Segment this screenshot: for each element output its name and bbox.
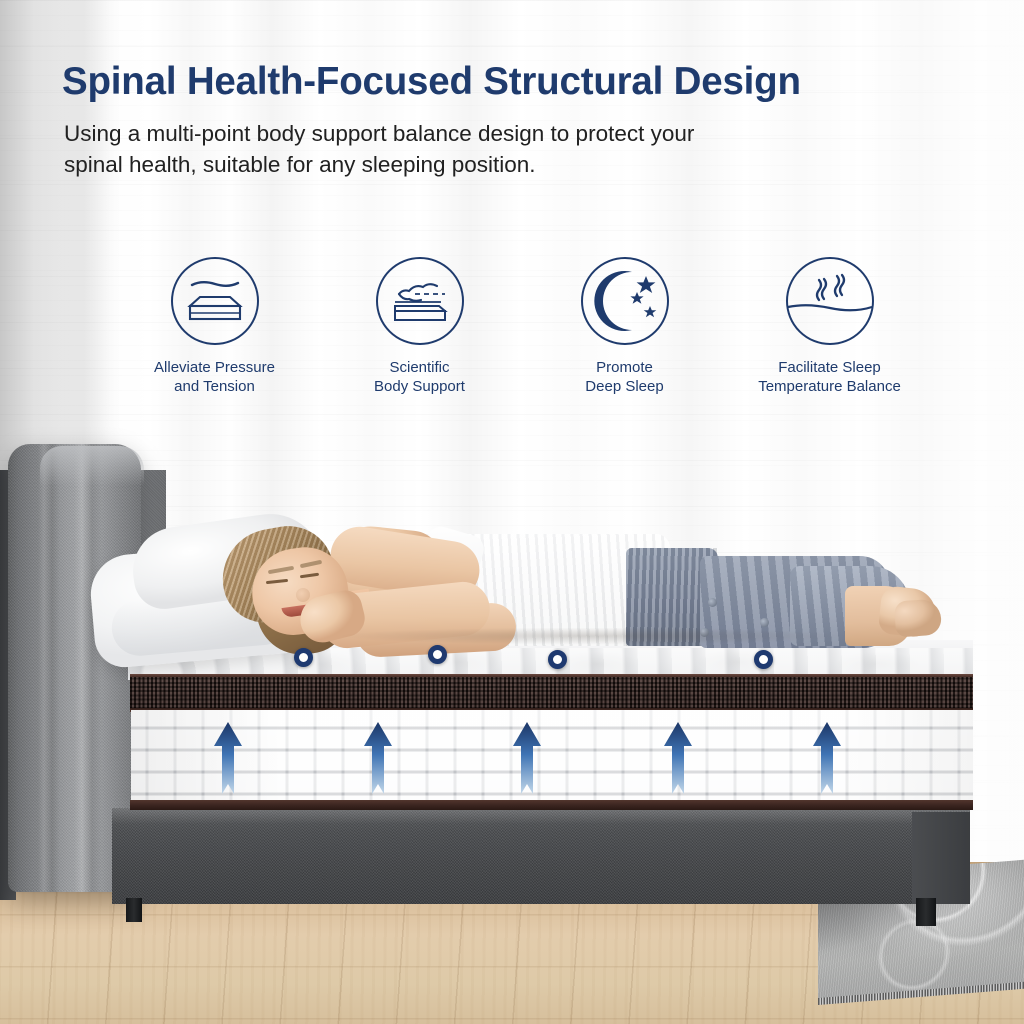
bed-leg-left (126, 898, 142, 922)
feature-item-temperature-balance: Facilitate Sleep Temperature Balance (727, 256, 932, 416)
support-point-marker (428, 645, 447, 664)
support-arrow-up (812, 722, 842, 794)
moon-stars-icon (580, 256, 670, 346)
feature-label: Facilitate Sleep Temperature Balance (758, 358, 901, 396)
headboard-top-highlight (40, 446, 144, 486)
support-point-marker (548, 650, 567, 669)
side-panel-shading (131, 710, 973, 808)
support-point-marker (294, 648, 313, 667)
feature-icon-row: Alleviate Pressure and Tension Scientifi… (112, 256, 932, 416)
body-support-alignment-icon (375, 256, 465, 346)
support-arrow-up (663, 722, 693, 794)
bed-leg-right (916, 898, 936, 926)
feature-label: Alleviate Pressure and Tension (154, 358, 275, 396)
heat-waves-icon (785, 256, 875, 346)
feature-label: Scientific Body Support (374, 358, 465, 396)
page-title: Spinal Health-Focused Structural Design (62, 60, 962, 104)
feature-item-deep-sleep: Promote Deep Sleep (522, 256, 727, 416)
support-arrow-up (512, 722, 542, 794)
product-feature-graphic: Spinal Health-Focused Structural Design … (0, 0, 1024, 1024)
pants-button-1 (708, 598, 717, 607)
support-arrow-up (363, 722, 393, 794)
support-point-marker (754, 650, 773, 669)
pants-button-3 (760, 618, 769, 627)
mattress-bottom-trim (130, 800, 973, 810)
feature-item-alleviate-pressure: Alleviate Pressure and Tension (112, 256, 317, 416)
mattress-pressure-relief-icon (170, 256, 260, 346)
bed-base (112, 808, 970, 904)
sleeper-nose (296, 588, 310, 602)
support-arrow-up (213, 722, 243, 794)
sleeper-contact-shadow (240, 628, 940, 650)
mesh-perforations (130, 677, 973, 709)
page-subtitle: Using a multi-point body support balance… (64, 118, 944, 180)
bed-base-right-face (912, 812, 970, 904)
mattress-side-panel (131, 710, 973, 808)
mattress-mesh-band (130, 674, 973, 712)
feature-label: Promote Deep Sleep (585, 358, 663, 396)
feature-item-body-support: Scientific Body Support (317, 256, 522, 416)
base-top-highlight (112, 808, 970, 824)
